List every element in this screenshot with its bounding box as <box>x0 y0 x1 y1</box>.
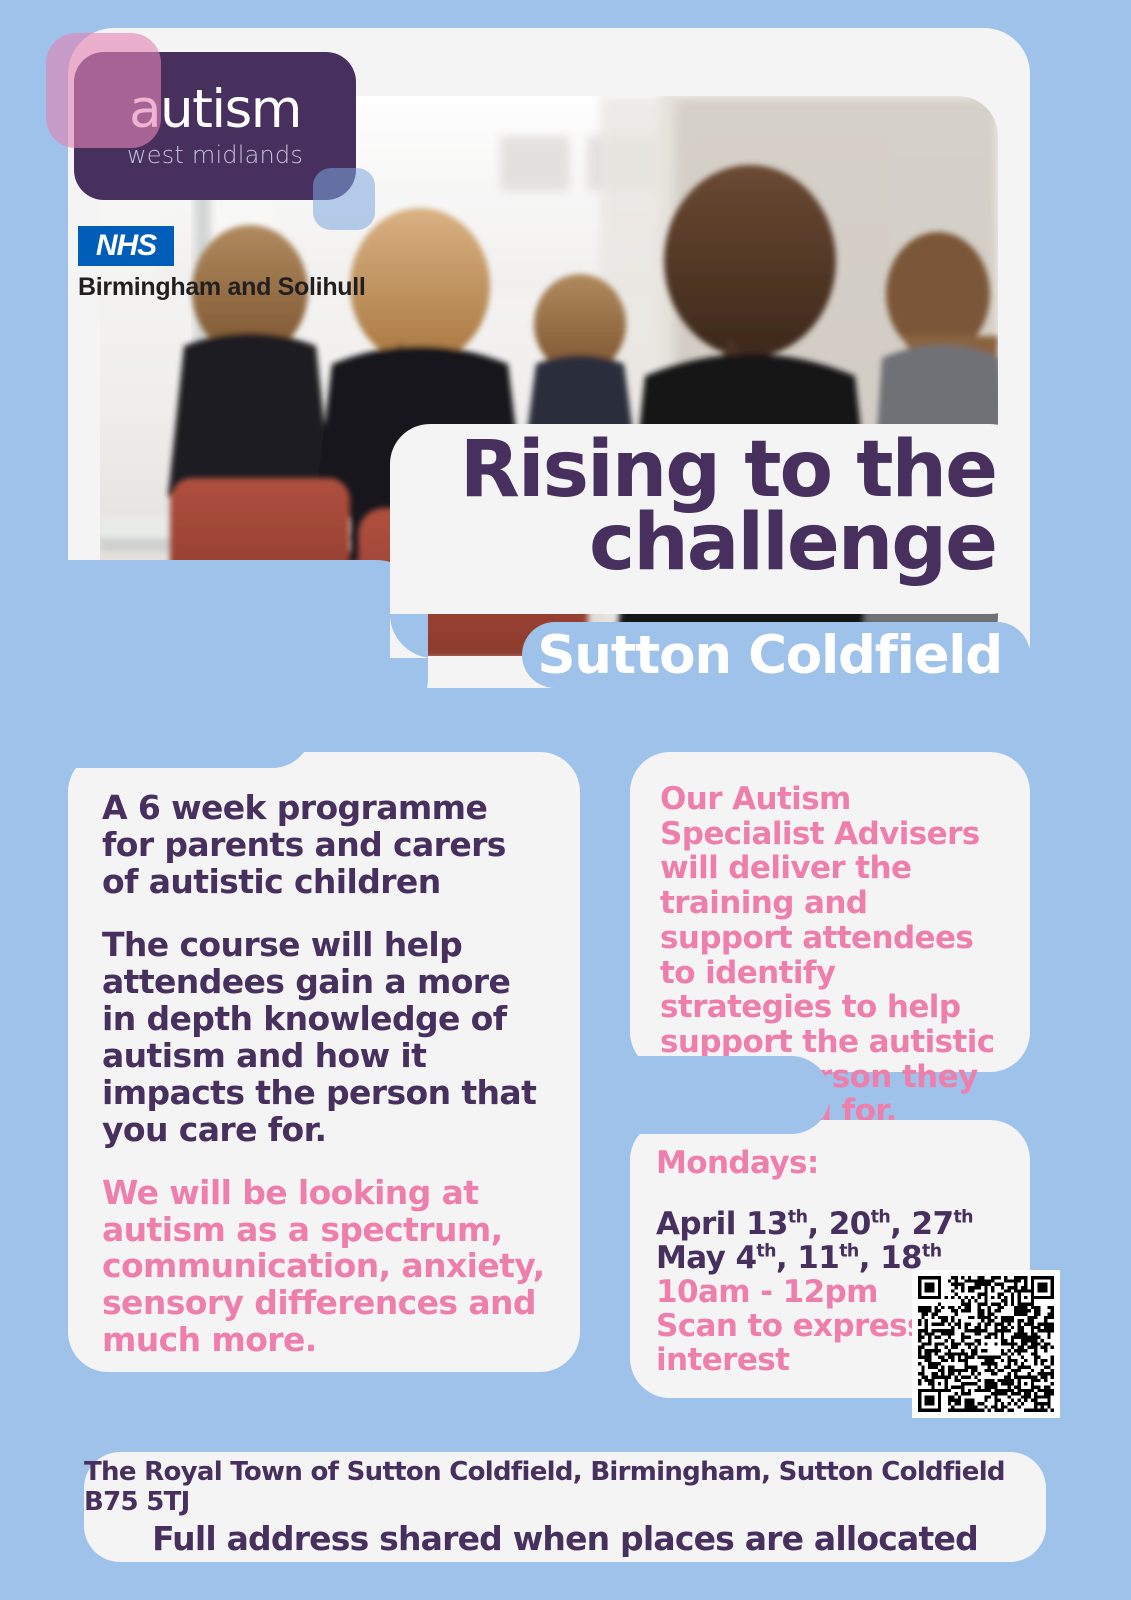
poster-title-card: Rising to the challenge <box>390 424 1030 614</box>
page-title-line-1: Rising to the <box>424 434 996 507</box>
may-dates-list: 4th, 11th, 18th <box>725 1240 941 1276</box>
date-ordinal: th <box>953 1207 972 1227</box>
notch-right-column-middle-fill <box>630 1056 790 1134</box>
schedule-day-heading: Mondays: <box>656 1146 1006 1181</box>
date-ordinal: th <box>839 1241 858 1261</box>
pink-decoration-square <box>46 33 161 148</box>
date-ordinal: th <box>788 1207 807 1227</box>
date-number: 4 <box>735 1240 756 1276</box>
date-number: 11 <box>797 1240 839 1276</box>
nhs-logo: NHS Birmingham and Solihull <box>78 226 366 302</box>
location-banner: Sutton Coldfield <box>522 622 1030 688</box>
advisers-card: Our Autism Specialist Advisers will deli… <box>630 752 1030 1072</box>
april-prefix: April <box>656 1206 736 1242</box>
course-description-paragraph: The course will help attendees gain a mo… <box>102 927 546 1149</box>
blue-decoration-square <box>313 168 375 230</box>
may-prefix: May <box>656 1240 725 1276</box>
date-number: 27 <box>912 1206 954 1242</box>
notch-left-column-top-fill <box>68 688 268 768</box>
april-dates-list: 13th, 20th, 27th <box>736 1206 973 1242</box>
april-dates-line: April 13th, 20th, 27th <box>656 1207 1006 1241</box>
date-number: 13 <box>746 1206 788 1242</box>
nhs-region-label: Birmingham and Solihull <box>78 273 366 302</box>
date-ordinal: th <box>756 1241 775 1261</box>
venue-address: The Royal Town of Sutton Coldfield, Birm… <box>84 1457 1046 1517</box>
date-number: 20 <box>829 1206 871 1242</box>
page-title-line-2: challenge <box>424 507 996 580</box>
left-content-card: A 6 week programme for parents and carer… <box>68 752 580 1372</box>
nhs-badge-text: NHS <box>96 229 156 263</box>
date-ordinal: th <box>871 1207 890 1227</box>
poster-root: autism west midlands NHS Birmingham and … <box>0 0 1131 1600</box>
location-label: Sutton Coldfield <box>537 629 1002 682</box>
date-ordinal: th <box>922 1241 941 1261</box>
topics-paragraph: We will be looking at autism as a spectr… <box>102 1175 546 1360</box>
address-note: Full address shared when places are allo… <box>152 1519 978 1558</box>
qr-code-express-interest[interactable] <box>912 1270 1060 1418</box>
footer-address-card: The Royal Town of Sutton Coldfield, Birm… <box>84 1452 1046 1562</box>
nhs-badge: NHS <box>78 226 174 266</box>
logo-subtitle: west midlands <box>127 141 303 169</box>
programme-summary-paragraph: A 6 week programme for parents and carer… <box>102 790 546 901</box>
